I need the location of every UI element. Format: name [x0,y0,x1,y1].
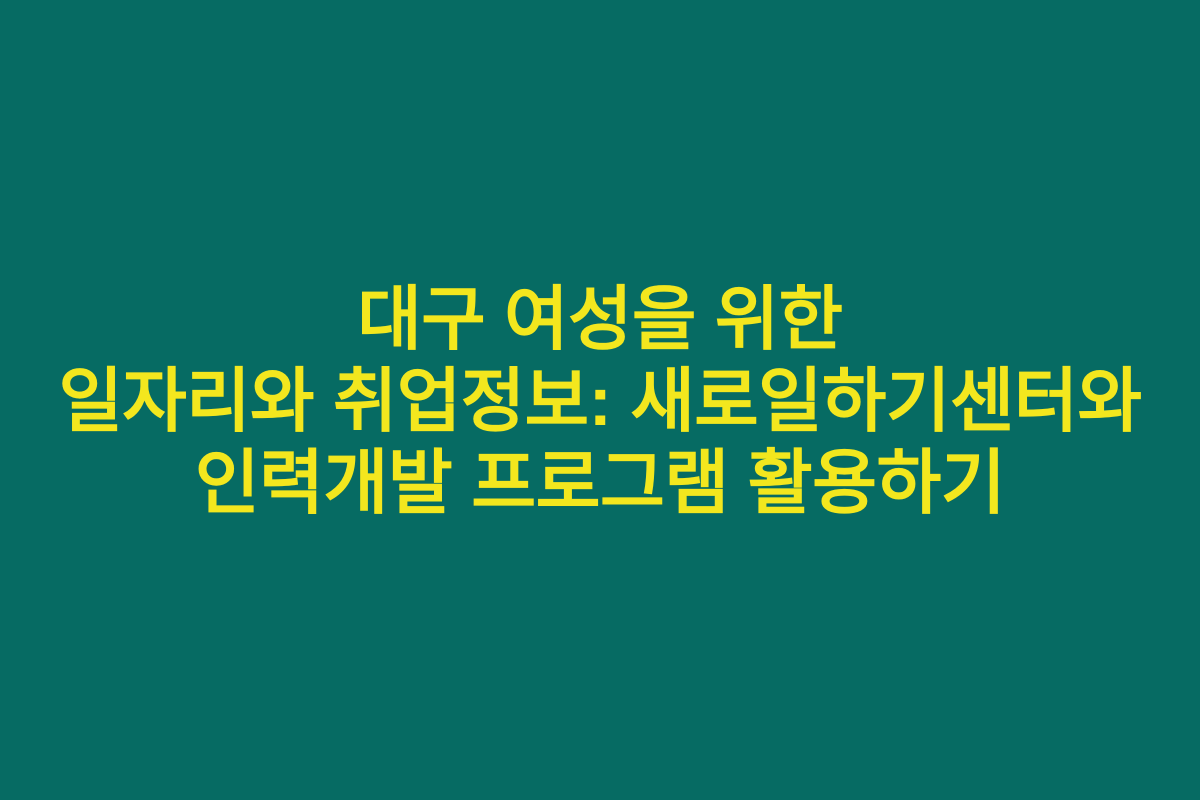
headline-block: 대구 여성을 위한 일자리와 취업정보: 새로일하기센터와 인력개발 프로그램 … [0,278,1200,524]
banner-canvas: 대구 여성을 위한 일자리와 취업정보: 새로일하기센터와 인력개발 프로그램 … [0,0,1200,800]
headline-line-2: 일자리와 취업정보: 새로일하기센터와 [58,360,1141,442]
headline-line-3: 인력개발 프로그램 활용하기 [195,442,1006,524]
headline-line-1: 대구 여성을 위한 [357,278,842,360]
